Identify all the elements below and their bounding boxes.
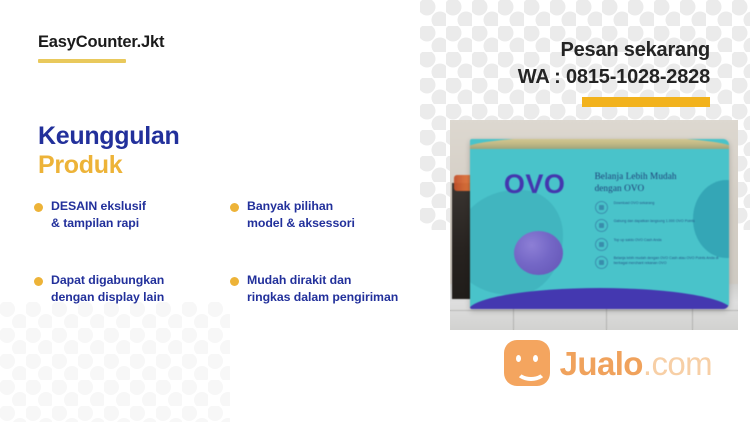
- counter-benefit-item: Belanja lebih mudah dengan OVO Cash atau…: [595, 256, 719, 269]
- counter-benefit-text: Download OVO sekarang: [614, 201, 655, 206]
- dot-pattern-bottom-left: [0, 302, 230, 422]
- jualo-watermark: Jualo .com: [504, 340, 712, 386]
- page-title-line2: Produk: [38, 151, 179, 180]
- shopping-bag-icon: [595, 256, 608, 269]
- feature-item-text: Dapat digabungkan dengan display lain: [51, 272, 164, 306]
- product-photo: OVO Belanja Lebih Mudah dengan OVO Downl…: [450, 120, 738, 330]
- counter-benefit-item: Download OVO sekarang: [595, 201, 719, 214]
- counter-headline-line2: dengan OVO: [595, 183, 645, 193]
- feature-item-line2: & tampilan rapi: [51, 216, 139, 230]
- counter-benefit-text: Gabung dan dapatkan langsung 1.000 OVO P…: [614, 219, 695, 224]
- bullet-dot-icon: [34, 277, 43, 286]
- bullet-dot-icon: [230, 203, 239, 212]
- counter-top-surface: [470, 139, 729, 149]
- order-cta: Pesan sekarang WA : 0815-1028-2828: [518, 38, 710, 107]
- feature-list: DESAIN ekslusif & tampilan rapi Banyak p…: [34, 198, 434, 306]
- feature-item-line1: Mudah dirakit dan: [247, 273, 351, 287]
- feature-item-line1: Dapat digabungkan: [51, 273, 164, 287]
- page-title: Keunggulan Produk: [38, 122, 179, 179]
- jualo-smile: [515, 359, 547, 381]
- feature-item: Dapat digabungkan dengan display lain: [34, 272, 230, 306]
- brand-logo: EasyCounter.Jkt: [38, 33, 164, 63]
- feature-item: Banyak pilihan model & aksessori: [230, 198, 434, 232]
- feature-item-text: Mudah dirakit dan ringkas dalam pengirim…: [247, 272, 398, 306]
- promo-poster: EasyCounter.Jkt Pesan sekarang WA : 0815…: [0, 0, 750, 422]
- counter-decor-circle: [514, 231, 563, 275]
- counter-headline: Belanja Lebih Mudah dengan OVO: [595, 170, 719, 194]
- gift-icon: [595, 219, 608, 232]
- photo-floor-grout-line: [450, 310, 738, 311]
- order-cta-whatsapp-number: WA : 0815-1028-2828: [518, 65, 710, 90]
- counter-benefit-text: Belanja lebih mudah dengan OVO Cash atau…: [614, 256, 719, 266]
- counter-copy: Belanja Lebih Mudah dengan OVO Download …: [595, 170, 719, 275]
- counter-headline-line1: Belanja Lebih Mudah: [595, 171, 677, 181]
- feature-item: Mudah dirakit dan ringkas dalam pengirim…: [230, 272, 434, 306]
- feature-item-text: Banyak pilihan model & aksessori: [247, 198, 355, 232]
- feature-item-line1: Banyak pilihan: [247, 199, 333, 213]
- download-icon: [595, 201, 608, 214]
- counter-benefit-text: Top up saldo OVO Cash Anda: [614, 238, 662, 243]
- feature-item-line1: DESAIN ekslusif: [51, 199, 146, 213]
- brand-logo-text: EasyCounter.Jkt: [38, 33, 164, 52]
- bullet-dot-icon: [34, 203, 43, 212]
- order-cta-line1: Pesan sekarang: [518, 38, 710, 63]
- feature-item-line2: dengan display lain: [51, 290, 164, 304]
- jualo-wordmark: Jualo: [560, 347, 643, 380]
- order-cta-underline: [582, 97, 710, 107]
- page-title-line1: Keunggulan: [38, 122, 179, 151]
- jualo-tld: .com: [643, 347, 712, 380]
- jualo-smiley-icon: [504, 340, 550, 386]
- counter-benefit-list: Download OVO sekarang Gabung dan dapatka…: [595, 201, 719, 270]
- brand-logo-underline: [38, 59, 126, 63]
- counter-benefit-item: Gabung dan dapatkan langsung 1.000 OVO P…: [595, 219, 719, 232]
- feature-item-line2: model & aksessori: [247, 216, 355, 230]
- ovo-wordmark: OVO: [504, 171, 566, 198]
- feature-item-line2: ringkas dalam pengiriman: [247, 290, 398, 304]
- ovo-counter-booth: OVO Belanja Lebih Mudah dengan OVO Downl…: [470, 139, 729, 309]
- topup-icon: [595, 238, 608, 251]
- feature-item-text: DESAIN ekslusif & tampilan rapi: [51, 198, 146, 232]
- feature-item: DESAIN ekslusif & tampilan rapi: [34, 198, 230, 232]
- counter-benefit-item: Top up saldo OVO Cash Anda: [595, 238, 719, 251]
- bullet-dot-icon: [230, 277, 239, 286]
